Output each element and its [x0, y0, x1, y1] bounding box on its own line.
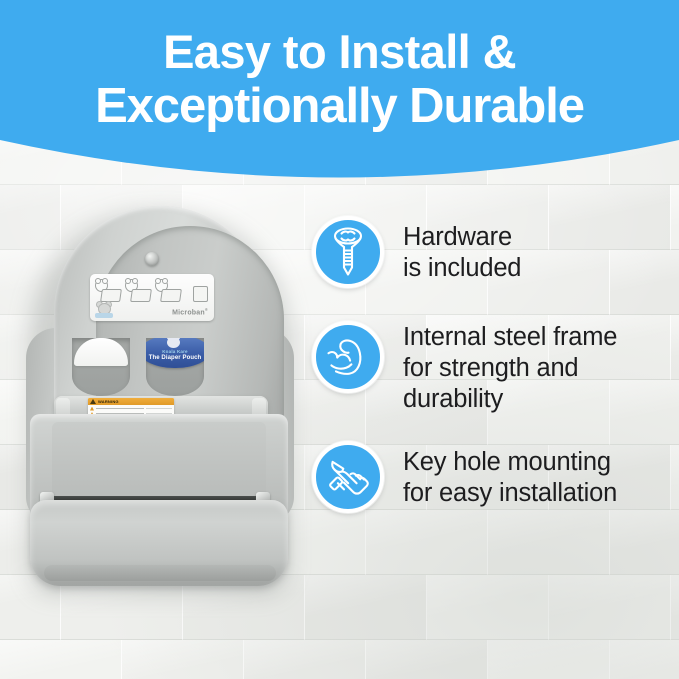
feature-item-steel-frame: Internal steel frame for strength and du…	[312, 321, 672, 415]
header-banner: Easy to Install & Exceptionally Durable	[0, 0, 679, 215]
diaper-pouch-opening: Koala Kare The Diaper Pouch	[146, 338, 204, 396]
registered-trademark-icon: ®	[205, 307, 208, 312]
feature-list: Hardware is included Internal steel fram…	[312, 216, 672, 546]
warning-triangle-icon	[90, 399, 96, 404]
diaper-pouch-label: Koala Kare The Diaper Pouch	[146, 338, 204, 368]
warning-header: WARNING	[88, 398, 174, 405]
changing-tray-surface	[52, 422, 266, 504]
feature-item-hardware: Hardware is included	[312, 216, 672, 288]
latch-knob	[145, 252, 159, 266]
flexed-bicep-icon	[312, 321, 384, 393]
koala-bear-logo-icon	[95, 302, 113, 318]
instruction-sticker: Microban®	[90, 274, 214, 321]
feature-label-keyhole-mounting: Key hole mounting for easy installation	[403, 441, 617, 509]
microban-brand-mark: Microban®	[172, 307, 208, 316]
instruction-step	[184, 279, 210, 303]
banner-headline: Easy to Install & Exceptionally Durable	[0, 0, 679, 134]
front-apron-lip	[44, 565, 276, 581]
instruction-step	[154, 279, 180, 303]
hand-holding-wrench-icon	[312, 441, 384, 513]
banner-headline-line2: Exceptionally Durable	[0, 79, 679, 134]
instruction-step	[124, 279, 150, 303]
front-apron	[30, 500, 288, 586]
microban-brand-text: Microban	[172, 309, 205, 316]
pouch-label-line1: Koala Kare	[146, 349, 204, 354]
liner-sheet	[74, 338, 128, 366]
instruction-steps	[94, 278, 210, 304]
pouch-label-line2: The Diaper Pouch	[146, 355, 204, 361]
liner-dispenser-opening	[72, 338, 130, 396]
feature-label-hardware: Hardware is included	[403, 216, 521, 284]
screw-icon	[312, 216, 384, 288]
product-feature-infographic: Microban® Koala Kare The Diaper Pouch WA…	[0, 0, 679, 679]
koala-bear-icon	[167, 338, 180, 348]
warning-heading-text: WARNING	[98, 399, 119, 404]
instruction-step	[94, 279, 120, 303]
feature-label-steel-frame: Internal steel frame for strength and du…	[403, 321, 617, 415]
feature-item-keyhole-mounting: Key hole mounting for easy installation	[312, 441, 672, 513]
banner-headline-line1: Easy to Install &	[163, 25, 516, 78]
warning-line	[90, 407, 172, 411]
baby-changing-station: Microban® Koala Kare The Diaper Pouch WA…	[24, 200, 294, 600]
